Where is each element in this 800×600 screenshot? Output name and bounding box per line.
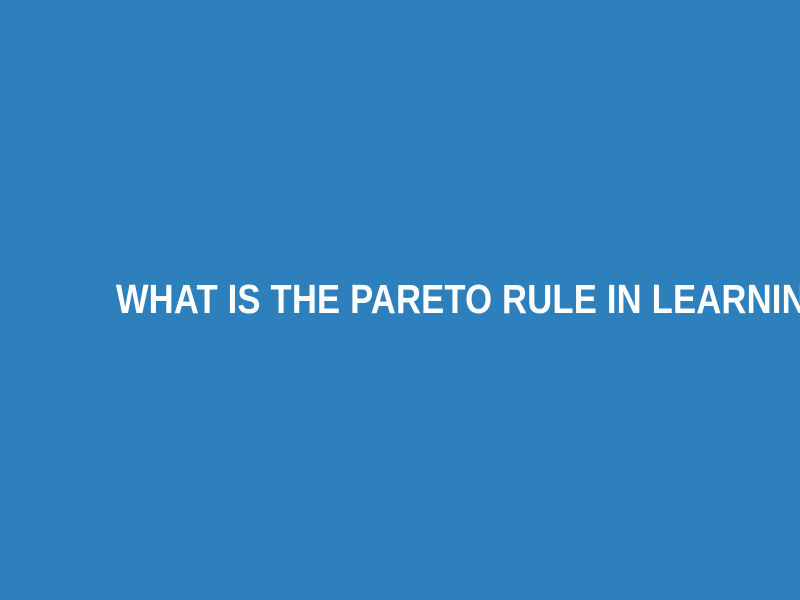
- featured-image-card: What is the Pareto Rule in Learning?: [0, 0, 800, 600]
- page-title: What is the Pareto Rule in Learning?: [116, 278, 800, 321]
- title-container: What is the Pareto Rule in Learning?: [0, 278, 800, 321]
